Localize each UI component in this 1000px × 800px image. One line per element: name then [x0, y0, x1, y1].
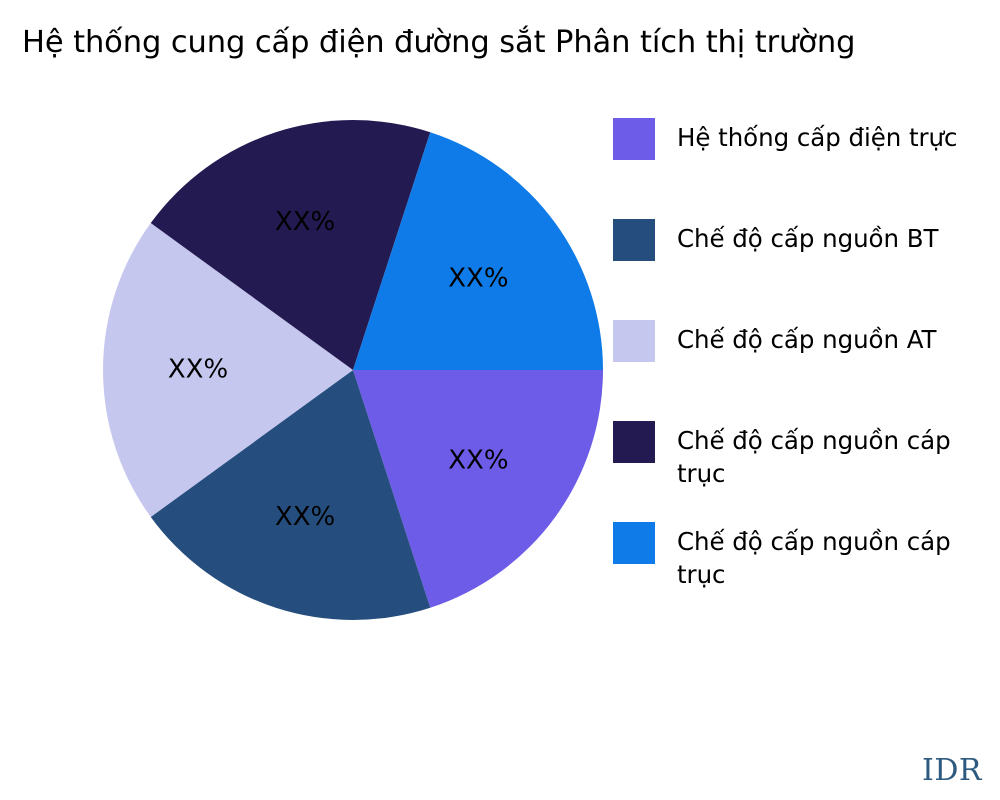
pie-svg: XX%XX%XX%XX%XX%	[103, 120, 603, 620]
legend-item[interactable]: Chế độ cấp nguồn BT	[613, 219, 1000, 261]
legend-color-swatch	[613, 320, 655, 362]
legend-color-swatch	[613, 118, 655, 160]
legend-item-label: Chế độ cấp nguồn BT	[677, 219, 938, 255]
pie-slice-label: XX%	[168, 355, 228, 385]
pie-slice-label: XX%	[275, 207, 335, 237]
legend-item[interactable]: Chế độ cấp nguồn cáp trục	[613, 421, 1000, 490]
legend-color-swatch	[613, 421, 655, 463]
legend-item-label: Chế độ cấp nguồn AT	[677, 320, 936, 356]
legend-item[interactable]: Chế độ cấp nguồn cáp trục	[613, 522, 1000, 591]
pie-chart: XX%XX%XX%XX%XX%	[103, 120, 603, 620]
legend-color-swatch	[613, 219, 655, 261]
pie-slice-label: XX%	[448, 446, 508, 476]
legend-color-swatch	[613, 522, 655, 564]
pie-slice-label: XX%	[448, 263, 508, 293]
chart-canvas: Hệ thống cung cấp điện đường sắt Phân tí…	[0, 0, 1000, 800]
legend-item-label: Chế độ cấp nguồn cáp trục	[677, 522, 951, 591]
legend-item[interactable]: Chế độ cấp nguồn AT	[613, 320, 1000, 362]
legend-item[interactable]: Hệ thống cấp điện trực	[613, 118, 1000, 160]
legend-item-label: Chế độ cấp nguồn cáp trục	[677, 421, 951, 490]
pie-slice-label: XX%	[275, 502, 335, 532]
page-title: Hệ thống cung cấp điện đường sắt Phân tí…	[22, 24, 992, 62]
watermark-label: IDR	[922, 753, 982, 788]
legend-item-label: Hệ thống cấp điện trực	[677, 118, 957, 154]
